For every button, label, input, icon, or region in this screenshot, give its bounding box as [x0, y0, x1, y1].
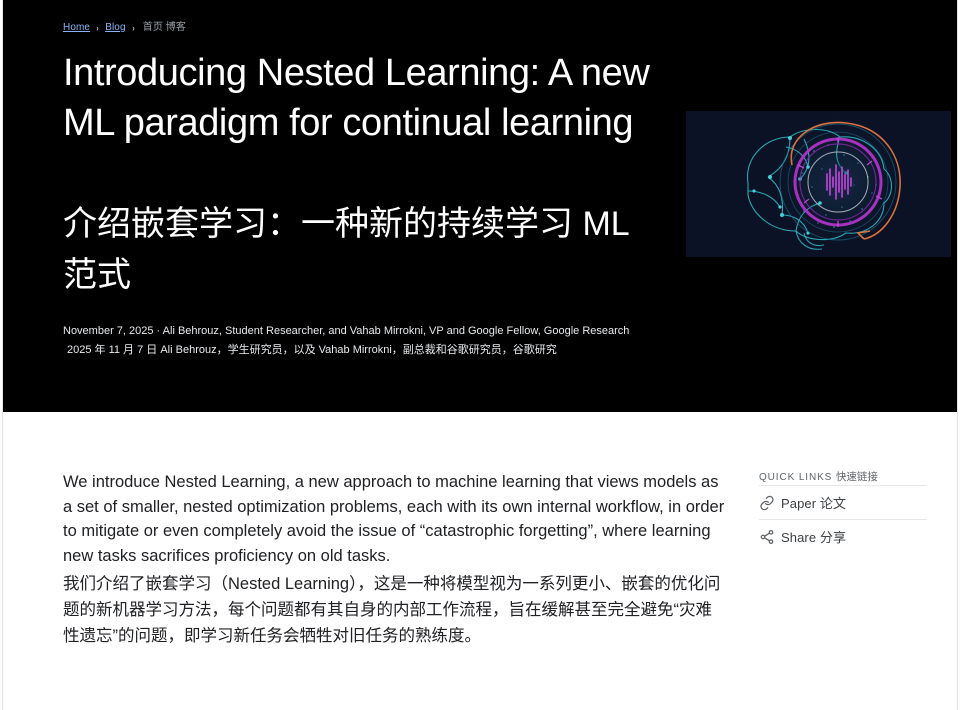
hero-image	[686, 111, 951, 257]
content-section: We introduce Nested Learning, a new appr…	[3, 412, 957, 710]
byline: November 7, 2025 · Ali Behrouz, Student …	[63, 322, 663, 360]
page-title-cn: 介绍嵌套学习：一种新的持续学习 ML 范式	[63, 199, 663, 301]
breadcrumb-label-cn: 首页 博客	[143, 21, 186, 35]
byline-cn: 2025 年 11 月 7 日 Ali Behrouz，学生研究员，以及 Vah…	[63, 341, 663, 360]
quick-links-heading-en: QUICK LINKS	[759, 472, 832, 483]
quick-link-share[interactable]: Share 分享	[759, 519, 927, 553]
quick-links-heading: QUICK LINKS 快速链接	[759, 470, 927, 485]
quick-link-label-paper: Paper 论文	[781, 493, 846, 512]
chevron-right-icon: ›	[96, 21, 98, 35]
page-title: Introducing Nested Learning: A new ML pa…	[63, 48, 663, 148]
quick-links-heading-cn: 快速链接	[836, 471, 878, 483]
chevron-right-icon-2: ›	[132, 21, 134, 35]
breadcrumb-link-home[interactable]: Home	[63, 21, 90, 35]
breadcrumb-link-blog[interactable]: Blog	[105, 21, 125, 35]
hero-section: Home › Blog › 首页 博客 Introducing Nested L…	[3, 0, 957, 412]
quick-link-label-share: Share 分享	[781, 527, 846, 546]
share-icon	[759, 529, 781, 545]
breadcrumb: Home › Blog › 首页 博客	[63, 21, 186, 35]
intro-paragraph-cn: 我们介绍了嵌套学习（Nested Learning），这是一种将模型视为一系列更…	[63, 571, 725, 649]
link-icon	[759, 495, 781, 511]
brain-network-illustration	[686, 111, 951, 257]
quick-links-sidebar: QUICK LINKS 快速链接 Paper 论文	[759, 470, 927, 553]
article-body: We introduce Nested Learning, a new appr…	[63, 470, 725, 649]
quick-link-paper[interactable]: Paper 论文	[759, 485, 927, 519]
byline-en: November 7, 2025 · Ali Behrouz, Student …	[63, 322, 663, 341]
blog-post-page: Home › Blog › 首页 博客 Introducing Nested L…	[2, 0, 958, 710]
intro-paragraph-en: We introduce Nested Learning, a new appr…	[63, 470, 725, 568]
